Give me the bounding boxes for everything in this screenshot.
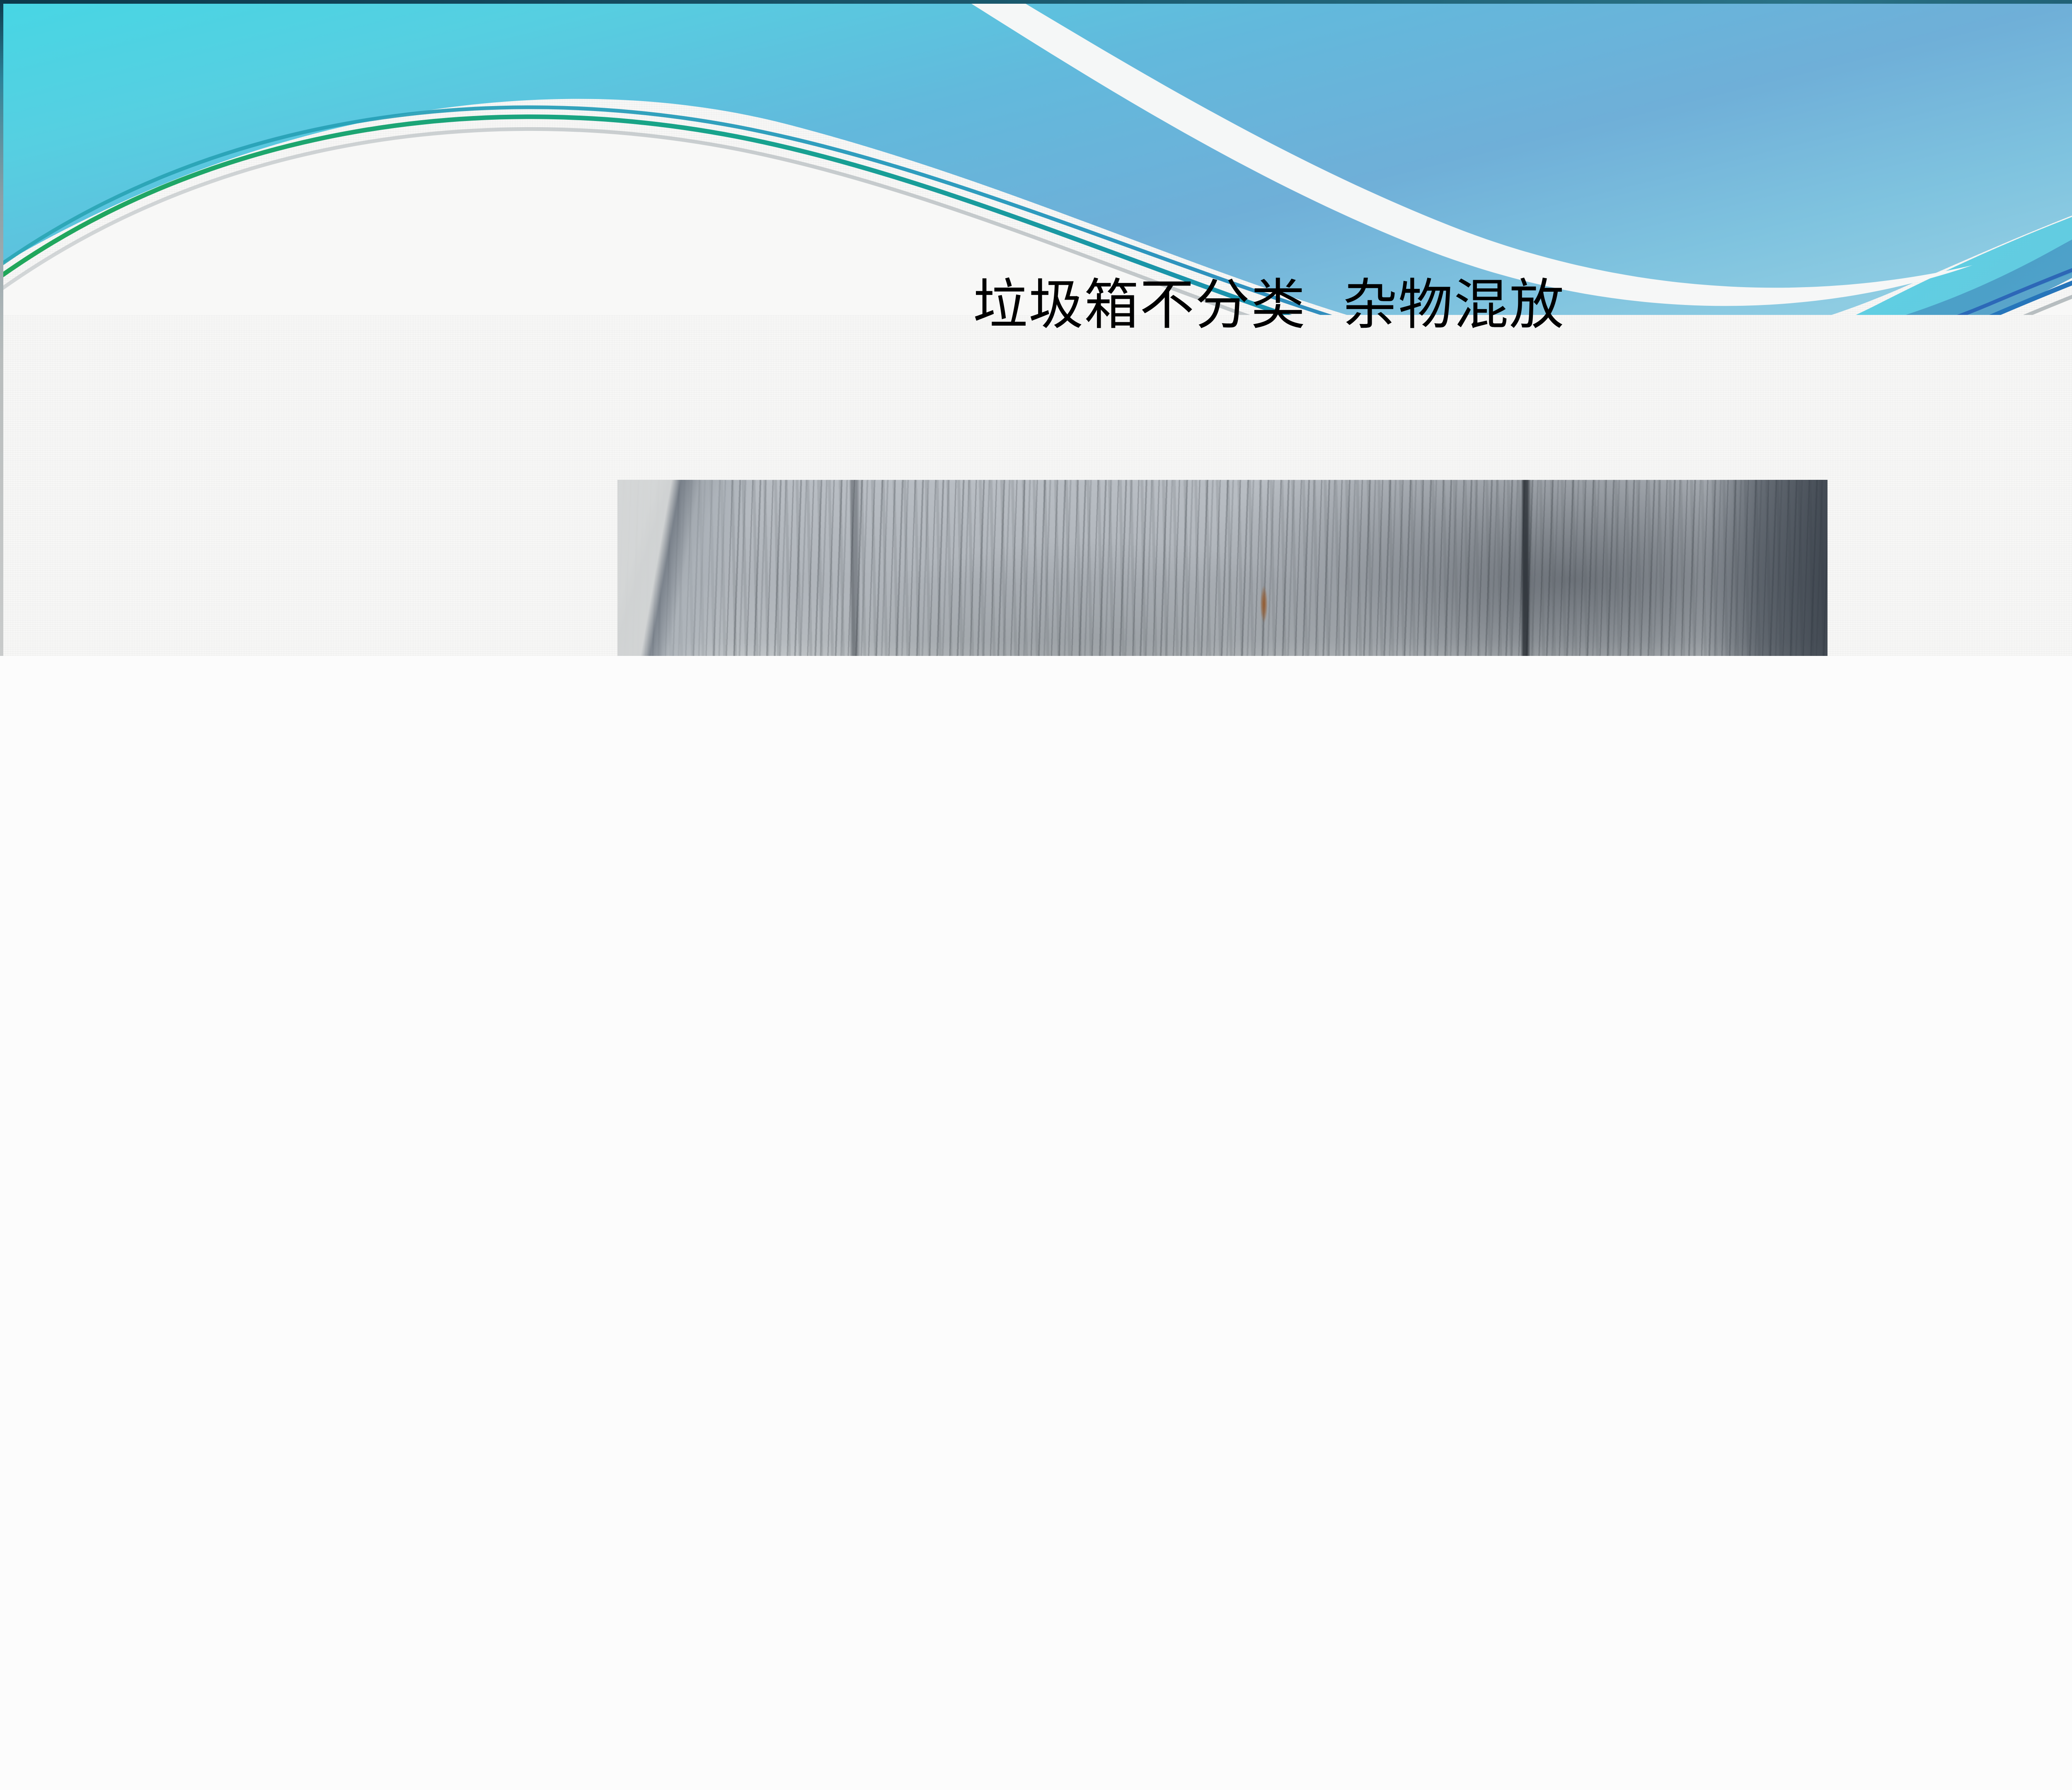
powerpoint-slide: 垃圾箱不分类 杂物混放	[0, 0, 2072, 656]
page-blank-area	[0, 656, 2072, 1790]
trash-bin-interior-photo	[617, 480, 1828, 656]
photo-right-shadow	[1703, 480, 1828, 656]
photo-surface	[617, 480, 1828, 656]
photo-left-edge-rail	[617, 480, 725, 656]
slide-title: 垃圾箱不分类 杂物混放	[0, 273, 2072, 337]
slide-decoration-swoosh	[0, 0, 2072, 315]
slide-border-top	[0, 0, 2072, 4]
